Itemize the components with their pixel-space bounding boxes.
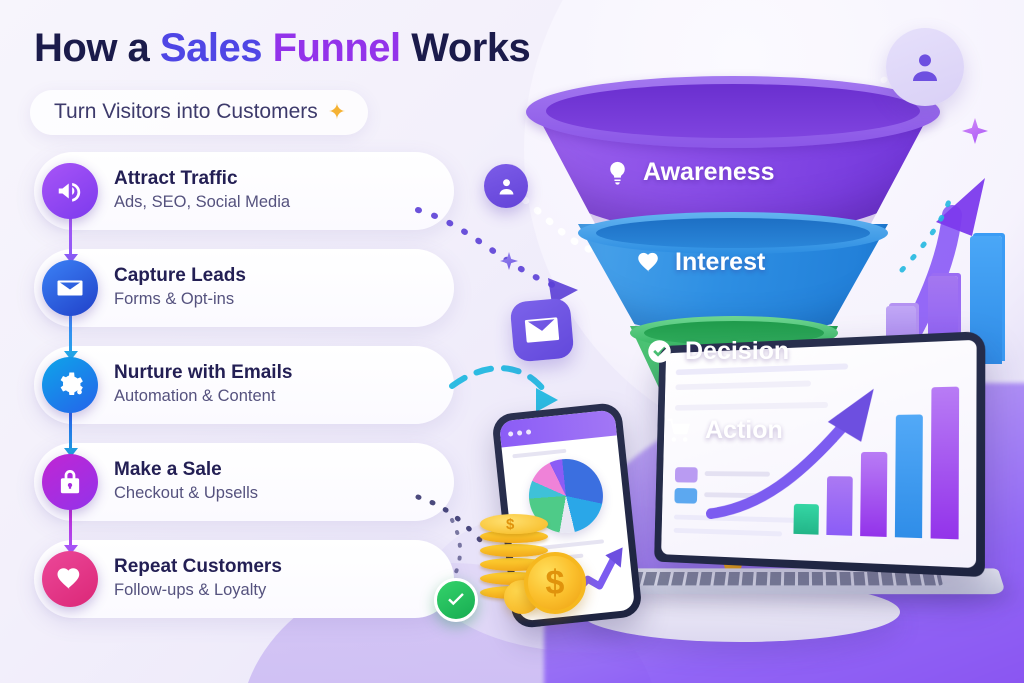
steps-list: Attract Traffic Ads, SEO, Social Media C…	[34, 152, 454, 637]
phone-dot	[526, 429, 531, 434]
lock-bag-icon	[42, 454, 98, 510]
phone-dot	[517, 430, 522, 435]
list-item[interactable]: Repeat Customers Follow-ups & Loyalty	[34, 540, 454, 618]
subtitle-pill: Turn Visitors into Customers ✦	[30, 90, 368, 135]
step-subtitle: Forms & Opt-ins	[114, 289, 246, 310]
laptop-dashboard	[661, 340, 977, 568]
heart-icon	[636, 249, 663, 276]
title-part-4: Works	[411, 26, 530, 70]
growth-arrow-icon	[703, 362, 938, 541]
funnel-stage-label-text: Awareness	[643, 158, 775, 187]
funnel-stage-interest-inner	[596, 218, 870, 248]
coin	[480, 544, 548, 557]
funnel-stage-interest-label: Interest	[636, 248, 765, 277]
laptop-device	[640, 338, 1024, 628]
list-item-text: Attract Traffic Ads, SEO, Social Media	[114, 168, 290, 213]
list-item[interactable]: Make a Sale Checkout & Upsells	[34, 443, 454, 521]
funnel-stage-label-text: Action	[705, 416, 783, 445]
check-circle-icon	[646, 338, 673, 365]
envelope-icon	[509, 297, 574, 362]
list-item-text: Make a Sale Checkout & Upsells	[114, 459, 258, 504]
status-badge	[434, 578, 478, 622]
dashboard-chip	[674, 488, 697, 504]
title-part-2: Sales	[160, 26, 273, 70]
funnel-stage-label-text: Interest	[675, 248, 765, 277]
lightbulb-icon	[604, 159, 631, 186]
check-icon	[444, 588, 468, 612]
step-subtitle: Ads, SEO, Social Media	[114, 192, 290, 213]
coin-stack: $ $	[480, 508, 600, 616]
laptop-screen-bezel	[654, 331, 985, 577]
cart-icon	[666, 417, 693, 444]
phone-dot	[508, 431, 513, 436]
sparkle-diamond-icon	[500, 252, 518, 270]
phone-line	[512, 449, 566, 459]
sparkle-icon: ✦	[328, 101, 346, 123]
funnel-stage-decision-label: Decision	[646, 337, 789, 366]
megaphone-icon	[42, 163, 98, 219]
step-subtitle: Follow-ups & Loyalty	[114, 580, 282, 601]
laptop-keyboard	[615, 572, 943, 585]
heart-icon	[42, 551, 98, 607]
coin-symbol: $	[546, 564, 565, 603]
step-subtitle: Automation & Content	[114, 386, 292, 407]
funnel-stage-label-text: Decision	[685, 337, 789, 366]
title-part-1: How a	[34, 26, 160, 70]
sparkle-diamond-icon	[962, 118, 988, 144]
list-item[interactable]: Capture Leads Forms & Opt-ins	[34, 249, 454, 327]
subtitle-text: Turn Visitors into Customers	[54, 100, 318, 124]
coin-symbol: $	[506, 516, 514, 533]
funnel-stage-awareness-inner	[546, 84, 920, 138]
step-title: Make a Sale	[114, 459, 258, 481]
funnel-stage-action-label: Action	[666, 416, 783, 445]
user-avatar-icon	[484, 164, 528, 208]
list-item-text: Capture Leads Forms & Opt-ins	[114, 265, 246, 310]
list-item[interactable]: Nurture with Emails Automation & Content	[34, 346, 454, 424]
step-title: Nurture with Emails	[114, 362, 292, 384]
list-item-text: Repeat Customers Follow-ups & Loyalty	[114, 556, 282, 601]
page-title: How a Sales Funnel Works	[34, 26, 530, 71]
step-title: Repeat Customers	[114, 556, 282, 578]
list-item-text: Nurture with Emails Automation & Content	[114, 362, 292, 407]
dashboard-chip	[675, 467, 698, 482]
gear-icon	[42, 357, 98, 413]
step-connector-1	[69, 218, 72, 262]
user-avatar-icon	[886, 28, 964, 106]
step-subtitle: Checkout & Upsells	[114, 483, 258, 504]
coin-large: $	[524, 552, 586, 614]
list-item[interactable]: Attract Traffic Ads, SEO, Social Media	[34, 152, 454, 230]
step-connector-3	[69, 412, 72, 456]
step-connector-4	[69, 509, 72, 553]
envelope-icon	[42, 260, 98, 316]
step-title: Attract Traffic	[114, 168, 290, 190]
title-part-3: Funnel	[273, 26, 412, 70]
step-title: Capture Leads	[114, 265, 246, 287]
funnel-stage-awareness-label: Awareness	[604, 158, 775, 187]
step-connector-2	[69, 315, 72, 359]
